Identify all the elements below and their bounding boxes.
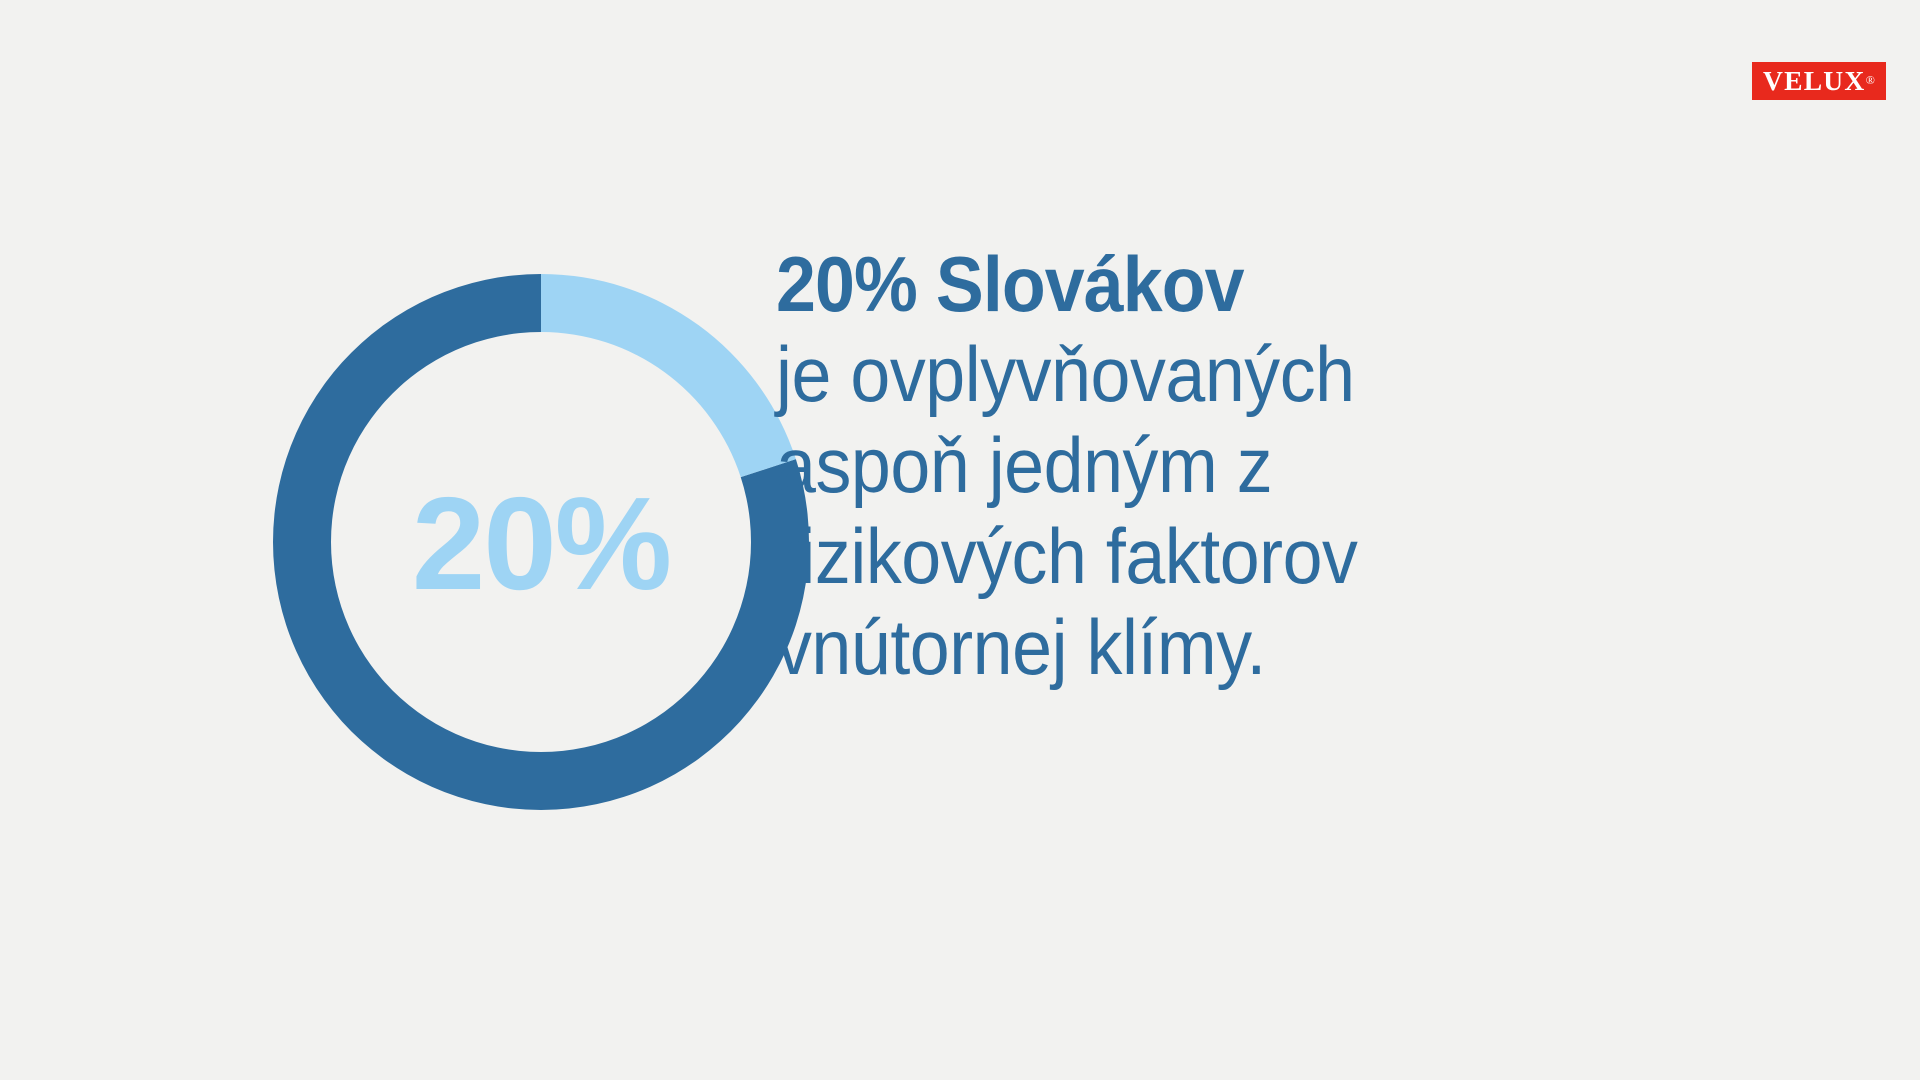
- infographic-canvas: VELUX® 20% 20% Slovákov je ovplyvňovanýc…: [0, 0, 1920, 1080]
- message-block: 20% Slovákov je ovplyvňovaných aspoň jed…: [776, 244, 1536, 693]
- message-line-2: aspoň jedným z: [776, 420, 1475, 511]
- message-line-4: vnútornej klímy.: [776, 602, 1475, 693]
- donut-chart-svg: [243, 244, 839, 840]
- message-line-3: rizikových faktorov: [776, 511, 1475, 602]
- velux-logo: VELUX®: [1752, 62, 1886, 100]
- message-line-1: je ovplyvňovaných: [776, 329, 1475, 420]
- message-headline: 20% Slovákov: [776, 244, 1475, 325]
- velux-wordmark: VELUX: [1763, 68, 1866, 95]
- donut-chart: 20%: [243, 244, 839, 840]
- registered-trademark-icon: ®: [1866, 74, 1875, 86]
- donut-segment-highlight: [541, 274, 796, 477]
